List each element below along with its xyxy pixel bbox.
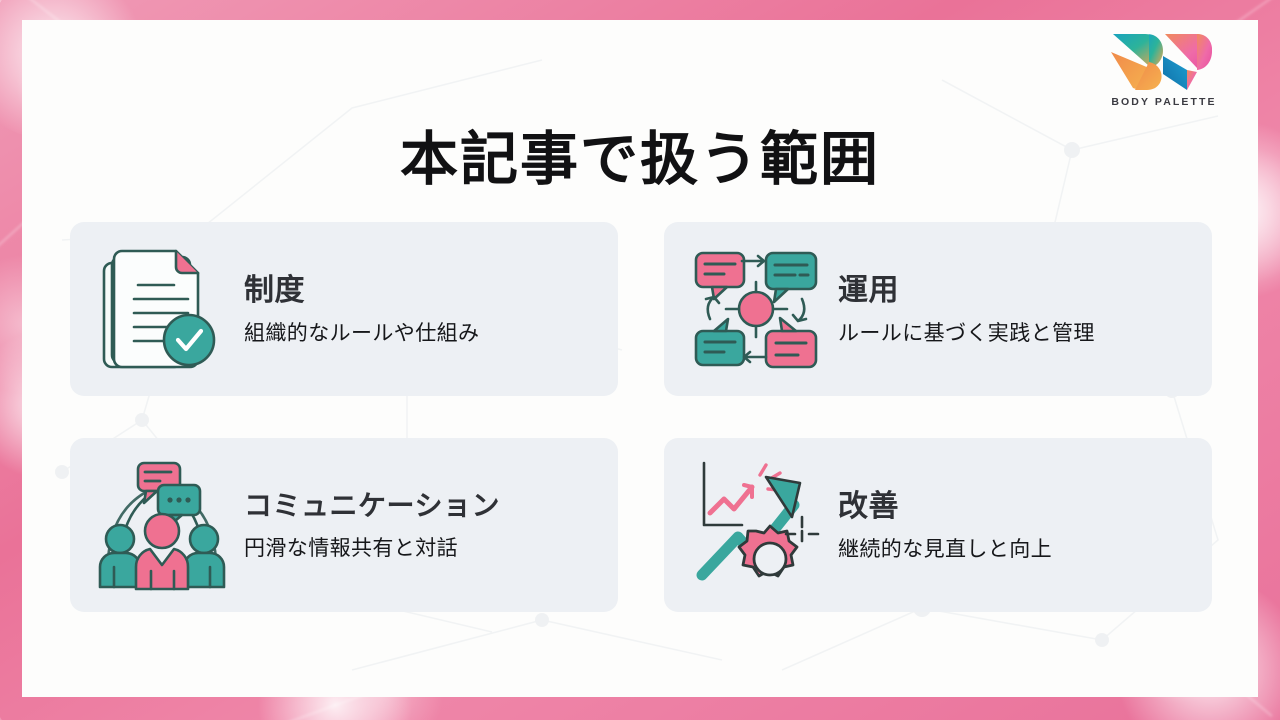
card-communication[interactable]: コミュニケーション 円滑な情報共有と対話 — [70, 438, 618, 612]
card-unyou[interactable]: 運用 ルールに基づく実践と管理 — [664, 222, 1212, 396]
card-description: ルールに基づく実践と管理 — [838, 321, 1194, 346]
card-text: 運用 ルールに基づく実践と管理 — [838, 272, 1194, 346]
card-grid: 制度 組織的なルールや仕組み — [70, 222, 1216, 612]
card-text: 制度 組織的なルールや仕組み — [244, 272, 600, 346]
slide-canvas: BODY PALETTE 本記事で扱う範囲 — [22, 20, 1258, 697]
bp-monogram-icon — [1105, 28, 1223, 94]
speech-bubble-network-icon — [690, 239, 822, 379]
card-description: 円滑な情報共有と対話 — [244, 536, 600, 561]
card-kaizen[interactable]: 改善 継続的な見直しと向上 — [664, 438, 1212, 612]
card-seido[interactable]: 制度 組織的なルールや仕組み — [70, 222, 618, 396]
card-title: コミュニケーション — [244, 491, 600, 522]
brand-logo: BODY PALETTE — [1098, 28, 1230, 108]
card-text: コミュニケーション 円滑な情報共有と対話 — [244, 489, 600, 561]
card-description: 継続的な見直しと向上 — [838, 537, 1194, 562]
people-conversation-icon — [96, 455, 228, 595]
card-text: 改善 継続的な見直しと向上 — [838, 488, 1194, 562]
page-title: 本記事で扱う範囲 — [22, 112, 1258, 196]
growth-chart-gear-icon — [690, 455, 822, 595]
card-description: 組織的なルールや仕組み — [244, 321, 600, 346]
card-title: 制度 — [244, 274, 600, 307]
card-title: 運用 — [838, 274, 1194, 307]
card-title: 改善 — [838, 490, 1194, 523]
slide-root: BODY PALETTE 本記事で扱う範囲 — [0, 0, 1280, 720]
logo-wordmark: BODY PALETTE — [1098, 96, 1230, 108]
document-stack-check-icon — [96, 239, 228, 379]
